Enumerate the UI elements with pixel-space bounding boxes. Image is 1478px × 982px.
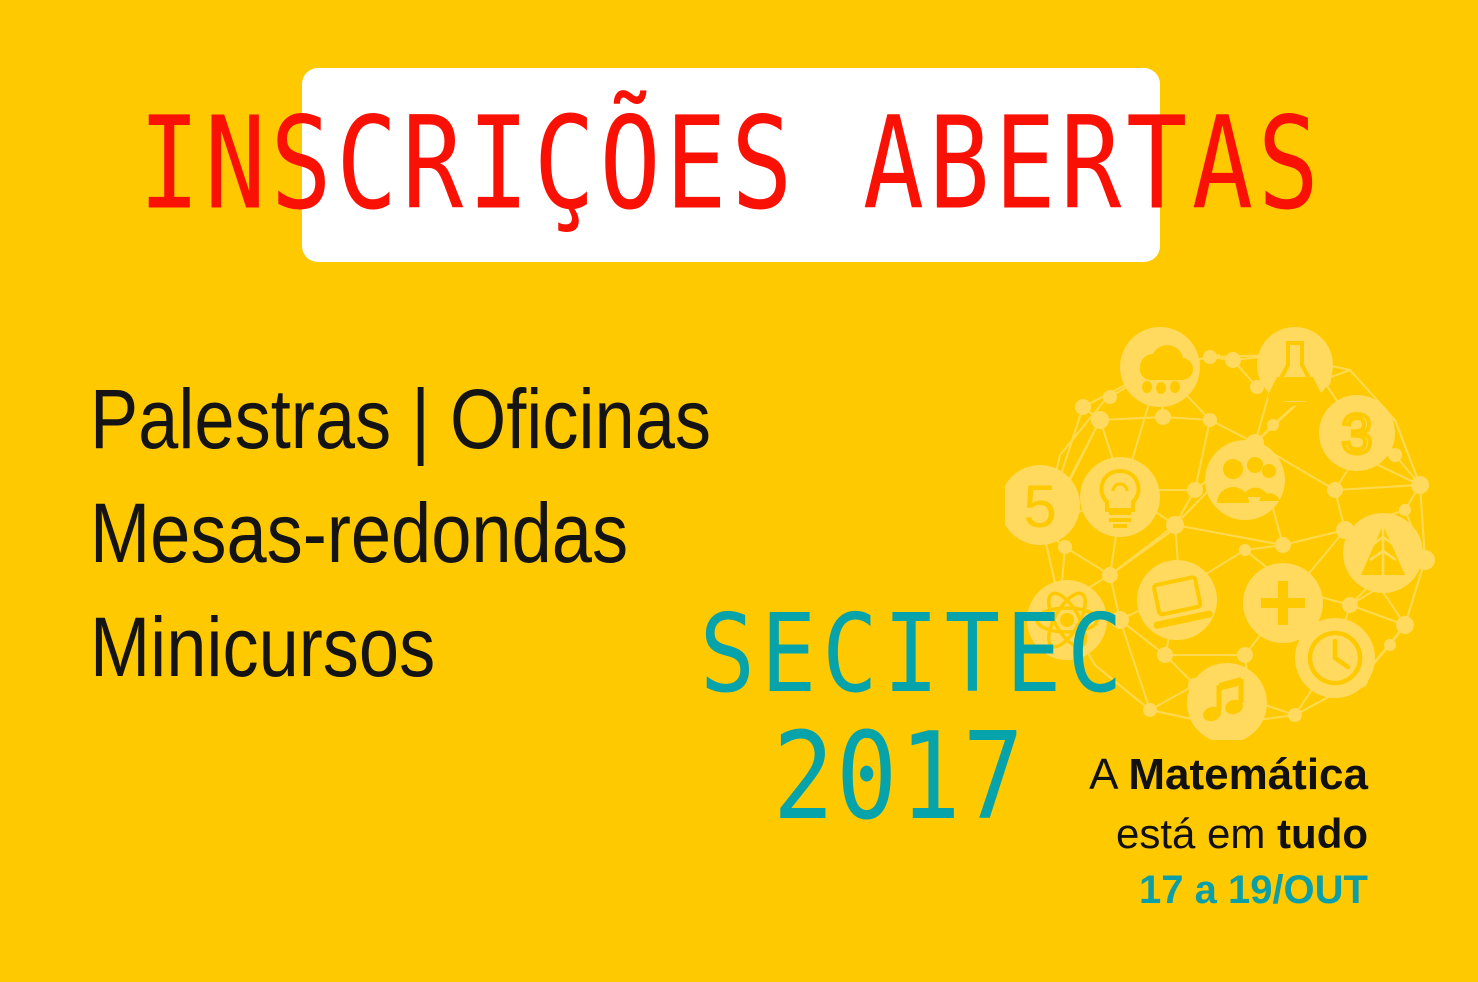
number-three-icon: 3 (1319, 395, 1395, 471)
activity-line-2: Mesas-redondas (90, 476, 847, 590)
tagline-line-1: A Matemática (1018, 748, 1368, 802)
headline-card: INSCRIÇÕES ABERTAS (302, 68, 1160, 262)
svg-text:5: 5 (1023, 473, 1056, 540)
logo-name: SECITEC (700, 600, 1026, 708)
event-dates: 17 a 19/OUT (1018, 866, 1368, 914)
secitec-logo: SECITEC 2017 (686, 606, 1026, 828)
people-group-icon (1205, 440, 1285, 520)
pine-tree-icon (1343, 513, 1423, 593)
headline-text: INSCRIÇÕES ABERTAS (139, 101, 1324, 228)
activity-line-1: Palestras | Oficinas (90, 362, 847, 476)
logo-year: 2017 (693, 716, 1026, 837)
music-note-icon (1187, 663, 1267, 740)
tagline-line1-emphasis: Matemática (1128, 750, 1368, 799)
clock-icon (1295, 618, 1375, 698)
flask-icon (1257, 327, 1333, 404)
rain-cloud-icon (1120, 327, 1200, 407)
tagline-line2-emphasis: tudo (1277, 810, 1368, 857)
plus-icon (1243, 563, 1323, 643)
tagline-line1-prefix: A (1089, 750, 1128, 799)
laptop-icon (1137, 560, 1217, 640)
tagline-line-2: está em tudo (1018, 808, 1368, 860)
poster-root: 3 5 (0, 0, 1478, 982)
lightbulb-icon (1080, 457, 1160, 537)
tagline-block: A Matemática está em tudo 17 a 19/OUT (1018, 748, 1368, 914)
svg-text:3: 3 (1341, 402, 1372, 465)
tagline-line2-prefix: está em (1116, 810, 1277, 857)
number-five-icon: 5 (1005, 465, 1080, 545)
